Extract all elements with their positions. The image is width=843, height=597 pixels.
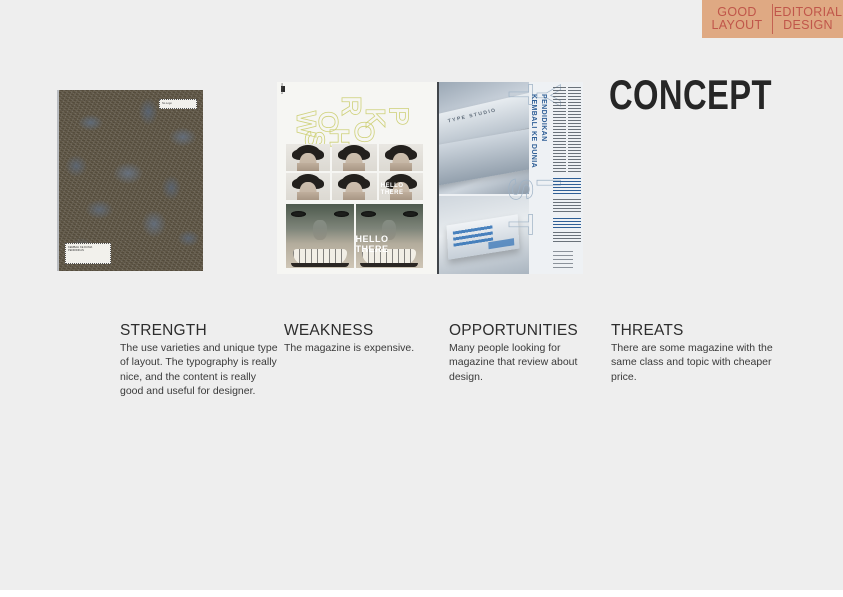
spread-left-page: KEMBALI KE DUNIA PENDIDIKAN / EDITORIAL … (277, 82, 437, 274)
swot-column-strength: STRENGTH The use varieties and unique ty… (120, 322, 282, 399)
swot-column-threats: THREATS There are some magazine with the… (611, 322, 781, 384)
green-letter: O (350, 121, 378, 143)
face-lip (291, 263, 349, 267)
green-letter: P (384, 107, 412, 126)
spread-gutter-line (437, 82, 439, 274)
badge-editorial-design-line2: DESIGN (773, 19, 843, 33)
body-text-column (553, 86, 566, 172)
portrait-neck (343, 163, 365, 171)
spread-right-page: TYPE STUDIO T Y S T I KEMBALI KE DUNIA P… (437, 82, 583, 274)
face-eye-right (334, 211, 349, 217)
closeup-face-row: HELLO THERE (286, 204, 423, 268)
swot-body-opportunities: Many people looking for magazine that re… (449, 341, 607, 384)
swot-section: STRENGTH The use varieties and unique ty… (0, 322, 843, 432)
badge-editorial-design-line1: EDITORIAL (773, 6, 843, 20)
body-text-column-blue (553, 216, 581, 228)
portrait-neck (297, 163, 319, 171)
face-eye-left (361, 211, 376, 217)
badge-good-layout: GOOD LAYOUT (702, 6, 772, 33)
portrait-photo (379, 144, 423, 171)
swot-column-opportunities: OPPORTUNITIES Many people looking for ma… (449, 322, 607, 384)
swot-body-weakness: The magazine is expensive. (284, 341, 444, 355)
vertical-headline-2: PENDIDIKAN (539, 94, 547, 142)
magazine-cover-image: No Logo KEMBALI KE DUNIA PENDIDIKAN (57, 90, 203, 271)
portrait-photo-with-caption: HELLO THERE (379, 173, 423, 200)
cover-label-bottom: KEMBALI KE DUNIA PENDIDIKAN (65, 243, 111, 264)
footer-strip (0, 590, 843, 597)
face-lip (360, 263, 418, 267)
body-text-column (553, 198, 581, 212)
page-title: CONCEPT (609, 74, 772, 116)
swot-heading-opportunities: OPPORTUNITIES (449, 322, 607, 339)
body-text-column-blue (553, 176, 581, 194)
portrait-photo (286, 144, 330, 171)
swot-column-weakness: WEAKNESS The magazine is expensive. (284, 322, 444, 355)
swot-body-strength: The use varieties and unique type of lay… (120, 341, 282, 399)
header-badge: GOOD LAYOUT EDITORIAL DESIGN (702, 0, 843, 38)
body-text-column (553, 232, 581, 242)
spread-side-micro-text: KEMBALI KE DUNIA PENDIDIKAN / EDITORIAL … (281, 82, 284, 94)
outline-letter: T (503, 214, 537, 235)
magazine-spread-image: KEMBALI KE DUNIA PENDIDIKAN / EDITORIAL … (277, 82, 583, 274)
face-eye-left (291, 211, 306, 217)
portrait-photo (286, 173, 330, 200)
body-text-column-footnotes (553, 248, 573, 268)
badge-divider (772, 4, 773, 34)
swot-heading-strength: STRENGTH (120, 322, 282, 339)
face-eye-right (403, 211, 418, 217)
face-nose (313, 220, 327, 240)
swot-body-threats: There are some magazine with the same cl… (611, 341, 781, 384)
body-text-column (568, 86, 581, 172)
portrait-neck (297, 192, 319, 200)
hello-there-caption: HELLO THERE (356, 234, 422, 254)
swot-heading-weakness: WEAKNESS (284, 322, 444, 339)
product-photo-bottom (437, 196, 529, 274)
badge-good-layout-line2: LAYOUT (702, 19, 772, 33)
closeup-face-photo (286, 204, 354, 268)
green-typography-block: W O R K S H O P (291, 88, 421, 150)
portrait-photo (332, 144, 376, 171)
portrait-neck (390, 163, 412, 171)
slide-canvas: GOOD LAYOUT EDITORIAL DESIGN CONCEPT No … (0, 0, 843, 590)
vertical-headline-1: KEMBALI KE DUNIA (529, 94, 537, 168)
hello-there-small-caption: HELLO THERE (381, 183, 423, 197)
badge-good-layout-line1: GOOD (702, 6, 772, 20)
portrait-photo (332, 173, 376, 200)
cover-label-top: No Logo (159, 99, 197, 109)
closeup-face-photo-with-caption: HELLO THERE (356, 204, 424, 268)
badge-editorial-design: EDITORIAL DESIGN (773, 6, 843, 33)
portrait-grid: HELLO THERE (286, 144, 423, 200)
portrait-neck (343, 192, 365, 200)
swot-heading-threats: THREATS (611, 322, 781, 339)
